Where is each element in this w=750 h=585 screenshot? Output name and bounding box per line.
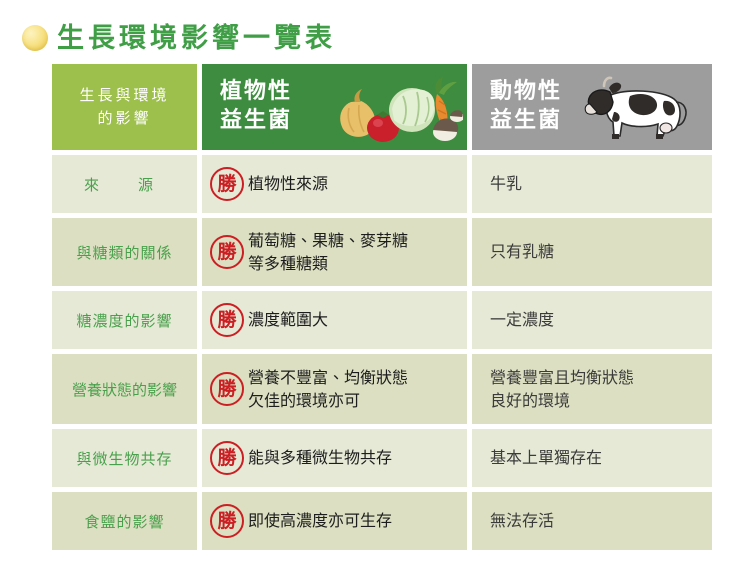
- header-line-2: 益生菌: [220, 107, 292, 136]
- table-row: 食鹽的影響 勝 即使高濃度亦可生存 無法存活: [52, 492, 712, 550]
- cell-plant-probiotics: 勝 能與多種微生物共存: [202, 429, 467, 487]
- cell-plant-probiotics: 勝 植物性來源: [202, 155, 467, 213]
- table-row: 與微生物共存 勝 能與多種微生物共存 基本上單獨存在: [52, 429, 712, 487]
- table-header-plant-probiotics-label: 植物性 益生菌: [220, 78, 292, 135]
- win-seal-icon: 勝: [210, 441, 244, 475]
- table-header-growth-environment: 生長與環境 的影響: [52, 64, 197, 150]
- cell-text-line-1: 營養不豐富、均衡狀態: [248, 366, 408, 389]
- table-header-animal-probiotics-label: 動物性 益生菌: [490, 78, 562, 135]
- row-category-label: 與微生物共存: [52, 429, 197, 487]
- page-title: 生長環境影響一覽表: [57, 25, 336, 52]
- table-header-plant-probiotics: 植物性 益生菌: [202, 64, 467, 150]
- win-group: 勝 能與多種微生物共存: [210, 441, 392, 475]
- row-category-label: 食鹽的影響: [52, 492, 197, 550]
- header-line-1: 植物性: [220, 78, 292, 107]
- cell-text: 只有乳糖: [490, 240, 554, 263]
- cell-text: 濃度範圍大: [248, 308, 328, 331]
- table-row: 來 源 勝 植物性來源 牛乳: [52, 155, 712, 213]
- cell-plant-probiotics: 勝 營養不豐富、均衡狀態 欠佳的環境亦可: [202, 354, 467, 424]
- win-group: 勝 濃度範圍大: [210, 303, 328, 337]
- row-category-label: 糖濃度的影響: [52, 291, 197, 349]
- yellow-circle-icon: [22, 25, 48, 51]
- cell-plant-probiotics: 勝 葡萄糖、果糖、麥芽糖 等多種糖類: [202, 218, 467, 286]
- cell-text-line-2: 欠佳的環境亦可: [248, 389, 408, 412]
- table-header-row: 生長與環境 的影響 植物性 益生菌: [52, 64, 712, 150]
- cell-text: 營養不豐富、均衡狀態 欠佳的環境亦可: [248, 366, 408, 412]
- cell-animal-probiotics: 牛乳: [472, 155, 712, 213]
- cell-text: 營養豐富且均衡狀態 良好的環境: [490, 366, 634, 412]
- header-line-1: 動物性: [490, 78, 562, 107]
- cell-text: 基本上單獨存在: [490, 446, 602, 469]
- cell-plant-probiotics: 勝 濃度範圍大: [202, 291, 467, 349]
- header-line-2: 益生菌: [490, 107, 562, 136]
- win-group: 勝 葡萄糖、果糖、麥芽糖 等多種糖類: [210, 229, 408, 275]
- table-row: 營養狀態的影響 勝 營養不豐富、均衡狀態 欠佳的環境亦可 營養豐富且均衡狀態 良…: [52, 354, 712, 424]
- win-group: 勝 即使高濃度亦可生存: [210, 504, 392, 538]
- header-line-2: 的影響: [79, 107, 169, 130]
- win-seal-icon: 勝: [210, 372, 244, 406]
- table-row: 糖濃度的影響 勝 濃度範圍大 一定濃度: [52, 291, 712, 349]
- cell-text-line-2: 等多種糖類: [248, 252, 408, 275]
- cell-plant-probiotics: 勝 即使高濃度亦可生存: [202, 492, 467, 550]
- win-group: 勝 營養不豐富、均衡狀態 欠佳的環境亦可: [210, 366, 408, 412]
- win-seal-icon: 勝: [210, 303, 244, 337]
- header-line-1: 生長與環境: [79, 84, 169, 107]
- cell-text: 即使高濃度亦可生存: [248, 509, 392, 532]
- page-title-bar: 生長環境影響一覽表: [22, 18, 336, 58]
- win-group: 勝 植物性來源: [210, 167, 328, 201]
- cell-animal-probiotics: 營養豐富且均衡狀態 良好的環境: [472, 354, 712, 424]
- cell-text-line-1: 營養豐富且均衡狀態: [490, 366, 634, 389]
- win-seal-icon: 勝: [210, 167, 244, 201]
- row-category-label: 來 源: [52, 155, 197, 213]
- vegetables-illustration-icon: [333, 72, 463, 144]
- cell-animal-probiotics: 基本上單獨存在: [472, 429, 712, 487]
- cow-illustration-icon: [578, 68, 698, 148]
- table-header-animal-probiotics: 動物性 益生菌: [472, 64, 712, 150]
- cell-text: 無法存活: [490, 509, 554, 532]
- cell-text: 植物性來源: [248, 172, 328, 195]
- cell-animal-probiotics: 一定濃度: [472, 291, 712, 349]
- cell-text-line-1: 葡萄糖、果糖、麥芽糖: [248, 229, 408, 252]
- cell-text: 葡萄糖、果糖、麥芽糖 等多種糖類: [248, 229, 408, 275]
- row-category-label: 營養狀態的影響: [52, 354, 197, 424]
- table-row: 與糖類的關係 勝 葡萄糖、果糖、麥芽糖 等多種糖類 只有乳糖: [52, 218, 712, 286]
- win-seal-icon: 勝: [210, 504, 244, 538]
- cell-text: 一定濃度: [490, 308, 554, 331]
- cell-text: 能與多種微生物共存: [248, 446, 392, 469]
- cell-text: 牛乳: [490, 172, 522, 195]
- win-seal-icon: 勝: [210, 235, 244, 269]
- cell-animal-probiotics: 只有乳糖: [472, 218, 712, 286]
- cell-text-line-2: 良好的環境: [490, 389, 634, 412]
- comparison-table: 生長與環境 的影響 植物性 益生菌: [52, 64, 712, 555]
- table-header-growth-environment-label: 生長與環境 的影響: [79, 84, 169, 131]
- cell-animal-probiotics: 無法存活: [472, 492, 712, 550]
- row-category-label: 與糖類的關係: [52, 218, 197, 286]
